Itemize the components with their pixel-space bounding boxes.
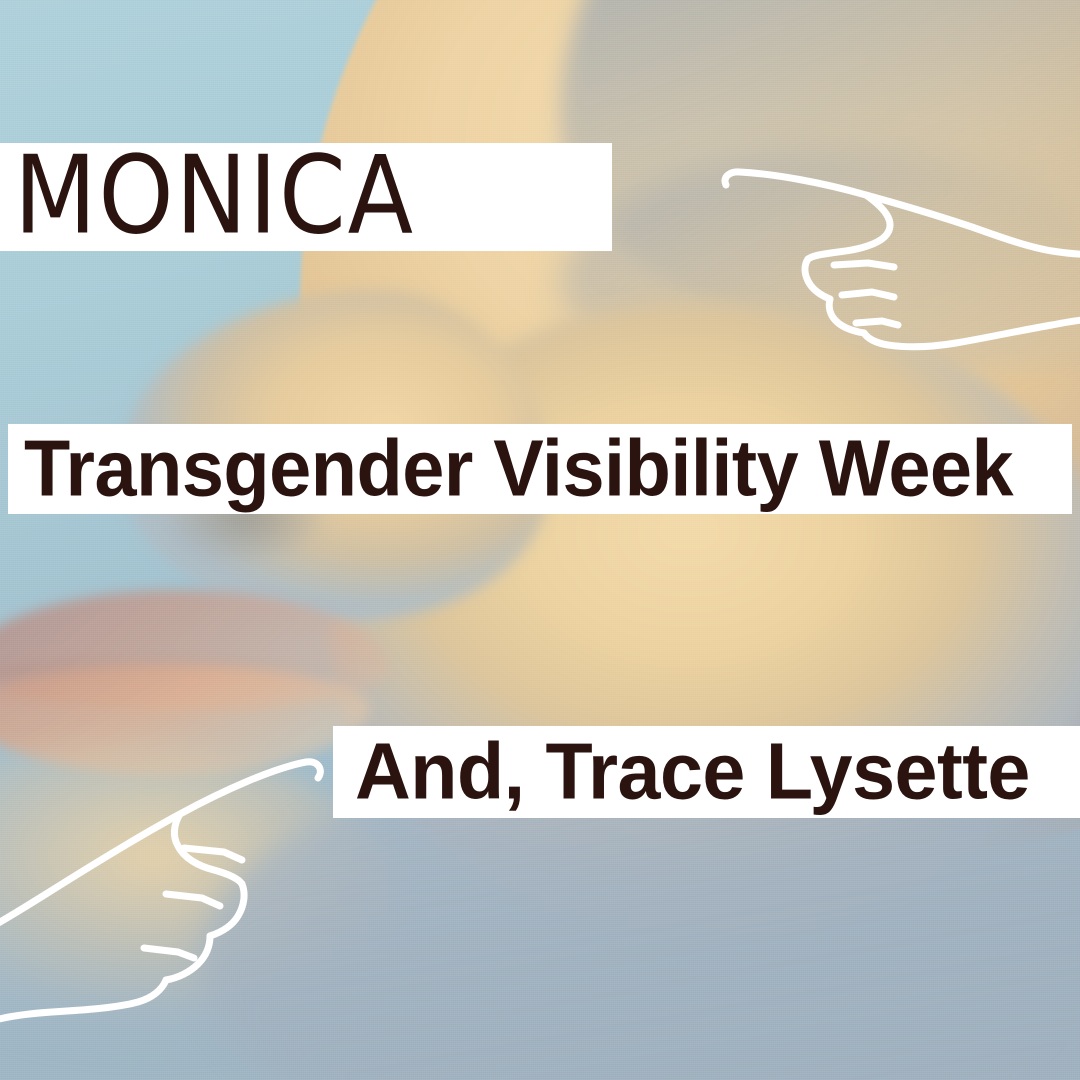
poster-canvas: MONICA Transgender Visibility Week And, … <box>0 0 1080 1080</box>
poster-credit-band: And, Trace Lysette <box>333 726 1080 818</box>
page-title: MONICA <box>14 143 415 249</box>
poster-subtitle-band: Transgender Visibility Week <box>8 424 1072 514</box>
poster-credit: And, Trace Lysette <box>355 731 1030 811</box>
poster-title-band: MONICA <box>0 143 612 251</box>
poster-subtitle: Transgender Visibility Week <box>24 428 1013 508</box>
